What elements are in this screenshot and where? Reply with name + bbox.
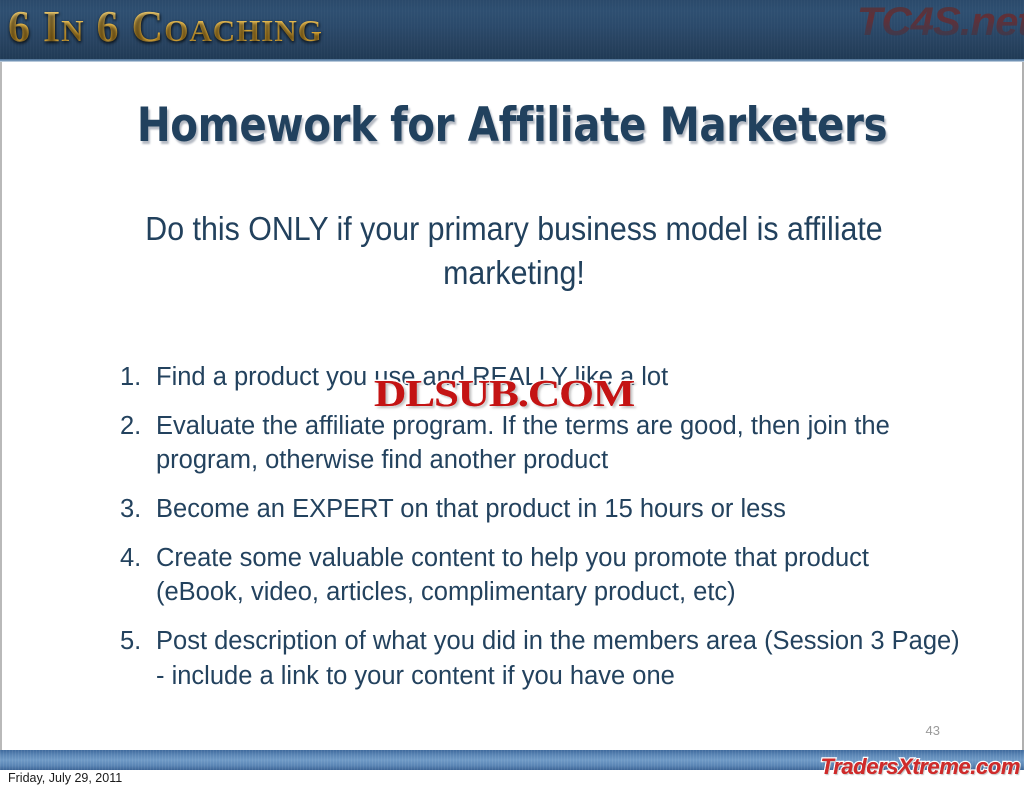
site-logo-header: TC4S.net bbox=[856, 0, 1024, 45]
list-item-text: Create some valuable content to help you… bbox=[156, 541, 962, 610]
slide-number: 43 bbox=[926, 723, 940, 738]
presentation-slide: 6 In 6 Coaching 6 In 6 Coaching TC4S.net… bbox=[0, 0, 1024, 788]
list-item-number: 4. bbox=[112, 541, 156, 576]
dlsub-watermark-fill: DLSUB.COM bbox=[374, 371, 634, 416]
site-logo-footer-fill: TradersXtreme.com bbox=[821, 754, 1020, 780]
list-item: 4. Create some valuable content to help … bbox=[112, 541, 962, 610]
brand-logo: 6 In 6 Coaching bbox=[8, 3, 323, 51]
list-item-number: 2. bbox=[112, 409, 156, 444]
list-item-number: 1. bbox=[112, 360, 156, 395]
list-item-text: Become an EXPERT on that product in 15 h… bbox=[156, 492, 962, 527]
list-item: 5. Post description of what you did in t… bbox=[112, 624, 962, 693]
slide-subtitle: Do this ONLY if your primary business mo… bbox=[128, 207, 901, 295]
header-banner: 6 In 6 Coaching 6 In 6 Coaching TC4S.net bbox=[0, 0, 1024, 62]
page-title: Homework for Affiliate Marketers bbox=[73, 98, 950, 153]
list-item: 3. Become an EXPERT on that product in 1… bbox=[112, 492, 962, 527]
list-item-number: 3. bbox=[112, 492, 156, 527]
list-item: 2. Evaluate the affiliate program. If th… bbox=[112, 409, 962, 478]
list-item-text: Evaluate the affiliate program. If the t… bbox=[156, 409, 962, 478]
list-item-text: Post description of what you did in the … bbox=[156, 624, 962, 693]
list-item-number: 5. bbox=[112, 624, 156, 659]
footer-date: Friday, July 29, 2011 bbox=[8, 771, 122, 785]
